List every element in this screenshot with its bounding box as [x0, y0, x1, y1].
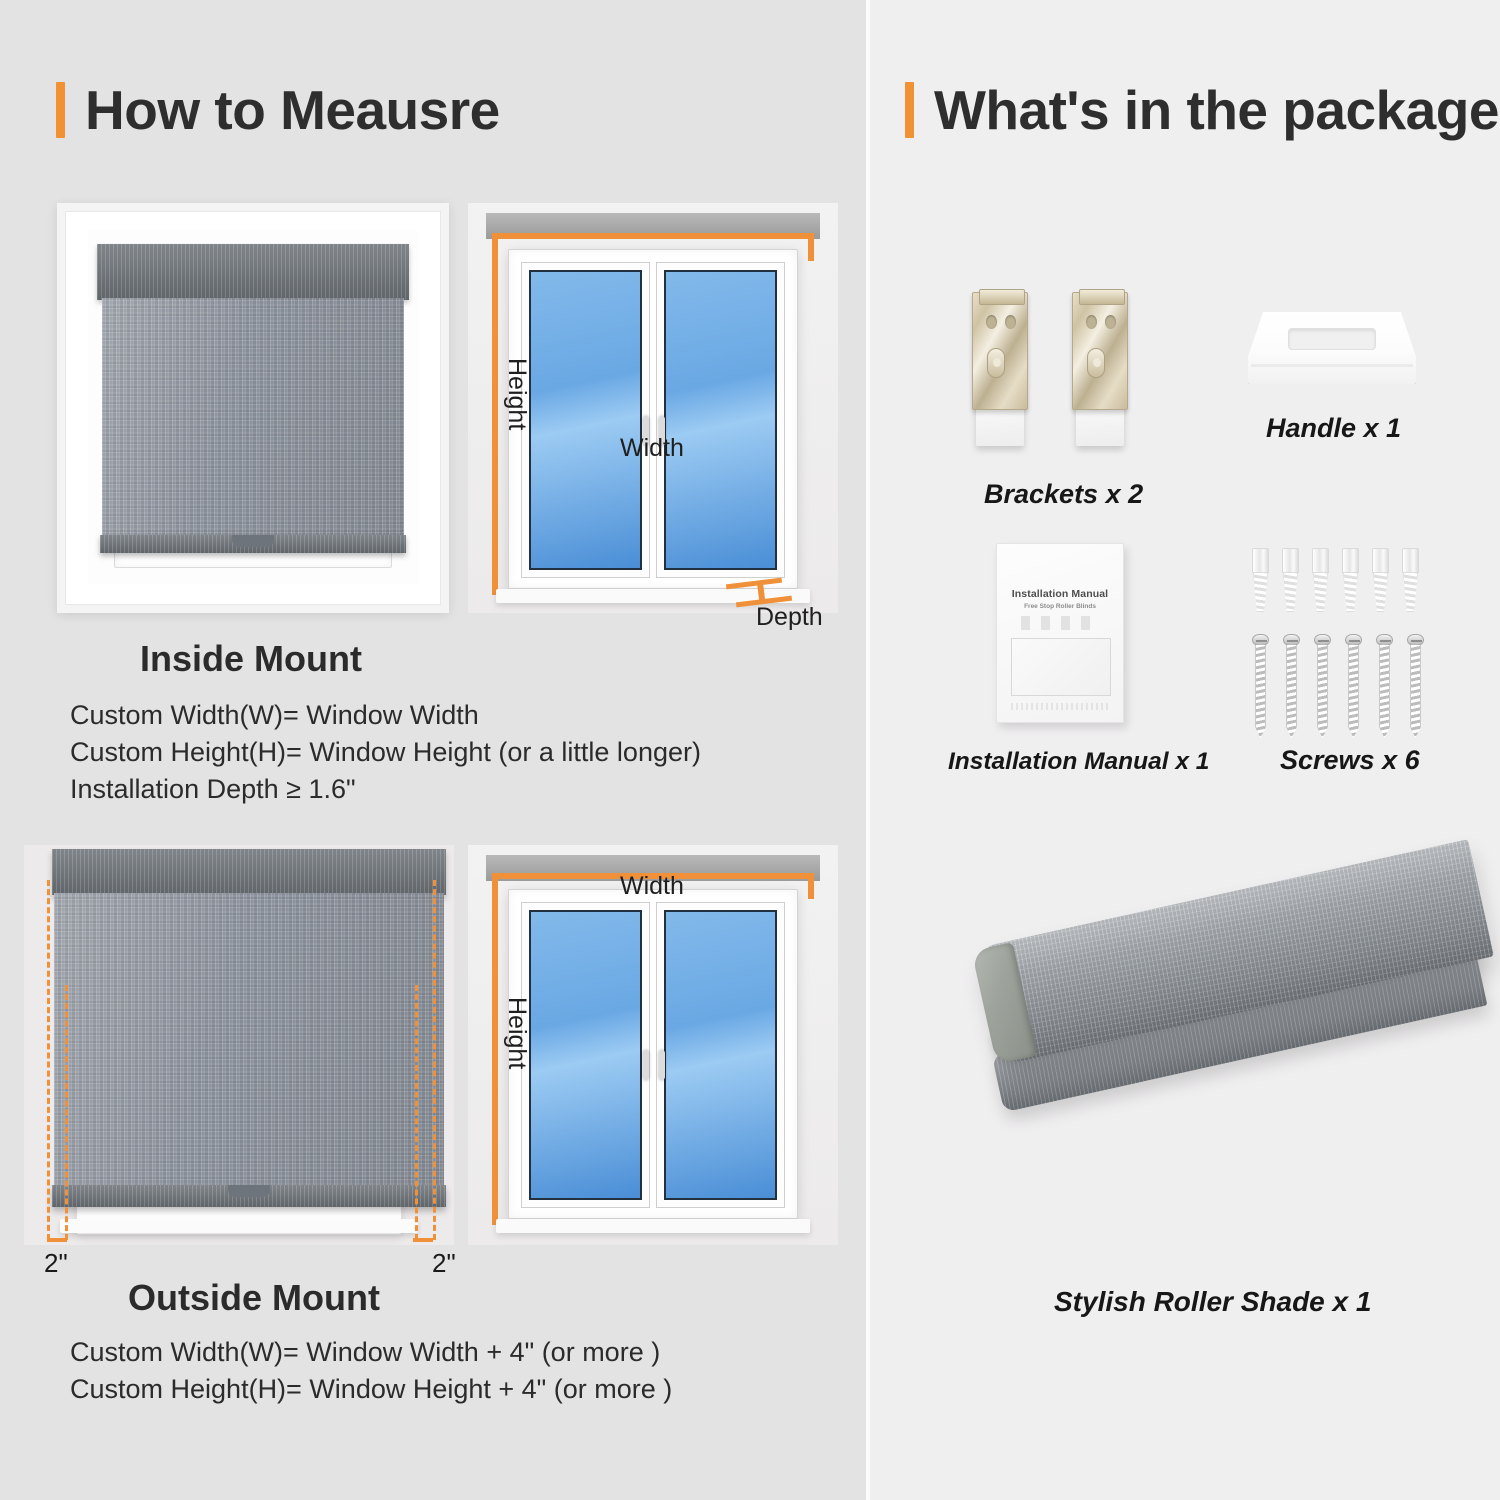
- screw: [1252, 634, 1269, 738]
- handle-grip-slot: [1288, 328, 1376, 350]
- window-sash-left: [521, 902, 650, 1208]
- manual-cover-icons: [1021, 616, 1101, 630]
- height-label: Height: [502, 358, 531, 430]
- screw-shaft: [1317, 645, 1328, 738]
- bracket-item-2: [1068, 288, 1132, 448]
- installation-manual-label: Installation Manual x 1: [948, 748, 1209, 776]
- shade-fabric: [102, 298, 404, 541]
- window-sash-right: [656, 902, 785, 1208]
- shade-bottom-rail: [52, 1185, 446, 1207]
- manual-cover-subtitle: Free Stop Roller Blinds: [997, 603, 1123, 610]
- screw-shaft: [1286, 645, 1297, 738]
- accent-bar-icon: [905, 82, 914, 138]
- anchor-body: [1373, 572, 1388, 612]
- screw-head: [1376, 634, 1393, 646]
- height-measure-bar: [492, 873, 498, 1225]
- height-measure-bar: [492, 233, 498, 595]
- window-outer-frame: [508, 889, 798, 1219]
- manual-cover-title: Installation Manual: [997, 588, 1123, 600]
- brackets-label: Brackets x 2: [984, 479, 1143, 510]
- screw: [1345, 634, 1362, 738]
- bracket-hole: [986, 315, 997, 329]
- screw: [1283, 634, 1300, 738]
- wall-anchor: [1311, 548, 1330, 612]
- depth-label: Depth: [756, 603, 823, 632]
- installation-manual-item: Installation Manual Free Stop Roller Bli…: [996, 543, 1124, 723]
- overhang-label-right: 2": [432, 1248, 456, 1279]
- panel-divider: [866, 0, 870, 1500]
- wall-anchor: [1281, 548, 1300, 612]
- handle-item: [1248, 312, 1416, 396]
- wall-anchor: [1401, 548, 1420, 612]
- overhang-guide-right-outer: [433, 880, 436, 1240]
- overhang-guide-left-outer: [47, 880, 50, 1240]
- package-title: What's in the package: [934, 83, 1499, 138]
- bracket-pin-slot: [987, 348, 1005, 378]
- anchor-head: [1402, 548, 1419, 573]
- overhang-guide-right-inner: [415, 985, 418, 1240]
- outside-mount-spec-1: Custom Width(W)= Window Width + 4" (or m…: [70, 1334, 660, 1371]
- accent-bar-icon: [56, 82, 65, 138]
- screw-head: [1314, 634, 1331, 646]
- window-glass-right: [664, 910, 777, 1200]
- overhang-guide-left-inner: [65, 985, 68, 1240]
- screw: [1376, 634, 1393, 738]
- width-label: Width: [620, 434, 684, 463]
- anchor-head: [1252, 548, 1269, 573]
- wall-anchor: [1371, 548, 1390, 612]
- screw-shaft: [1348, 645, 1359, 738]
- overhang-label-left: 2": [44, 1248, 68, 1279]
- window-wall-frame: [65, 211, 441, 605]
- roller-shade-label: Stylish Roller Shade x 1: [1054, 1286, 1371, 1318]
- width-measure-bar: [492, 233, 814, 239]
- handle-label: Handle x 1: [1266, 413, 1401, 444]
- wall-anchor-group: [1251, 548, 1431, 618]
- bracket-hole: [1105, 315, 1116, 329]
- screw-shaft: [1379, 645, 1390, 738]
- manual-cover-illustration: [1011, 638, 1111, 696]
- anchor-body: [1313, 572, 1328, 612]
- screw: [1407, 634, 1424, 738]
- package-heading: What's in the package: [905, 82, 1499, 138]
- anchor-head: [1282, 548, 1299, 573]
- width-measure-endcap-right: [808, 233, 814, 261]
- screw-head: [1252, 634, 1269, 646]
- anchor-body: [1253, 572, 1268, 612]
- screw: [1314, 634, 1331, 738]
- window-outer-frame: [508, 249, 798, 589]
- anchor-head: [1372, 548, 1389, 573]
- screws-label: Screws x 6: [1280, 745, 1420, 776]
- shade-fabric: [54, 893, 444, 1188]
- window-sill: [60, 1219, 418, 1233]
- outside-mount-title: Outside Mount: [128, 1277, 380, 1319]
- screw-shaft: [1255, 645, 1266, 738]
- bracket-hole: [1086, 315, 1097, 329]
- inside-mount-measure-diagram: Width Height Depth: [468, 203, 838, 613]
- outside-mount-measure-diagram: Width Height: [468, 845, 838, 1245]
- manual-cover-footer: [1011, 703, 1111, 710]
- shade-pull-tab: [232, 535, 274, 547]
- window-sill: [496, 1219, 810, 1233]
- anchor-body: [1343, 572, 1358, 612]
- outside-mount-shade-photo: [24, 845, 454, 1245]
- bracket-item-1: [968, 288, 1032, 448]
- handle-ridge: [1251, 364, 1413, 367]
- wall-anchor: [1251, 548, 1270, 612]
- screw-head: [1407, 634, 1424, 646]
- sash-handle-right-icon: [659, 1050, 665, 1080]
- how-to-measure-heading: How to Meausre: [56, 82, 500, 138]
- width-label: Width: [620, 872, 684, 901]
- wall-anchor: [1341, 548, 1360, 612]
- shade-bottom-rail: [100, 535, 406, 553]
- roller-shade-product-photo: [960, 905, 1490, 1235]
- window-sash-left: [521, 262, 650, 578]
- screw-group: [1252, 634, 1432, 738]
- screw-head: [1345, 634, 1362, 646]
- how-to-measure-title: How to Meausre: [85, 83, 500, 138]
- window-glass-right: [664, 270, 777, 570]
- shade-valance: [97, 244, 409, 300]
- anchor-body: [1283, 572, 1298, 612]
- inside-mount-shade-photo: [57, 203, 449, 613]
- screw-head: [1283, 634, 1300, 646]
- outside-mount-spec-2: Custom Height(H)= Window Height + 4" (or…: [70, 1371, 672, 1408]
- inside-mount-spec-2: Custom Height(H)= Window Height (or a li…: [70, 734, 701, 771]
- window-glass-left: [529, 270, 642, 570]
- height-label: Height: [502, 997, 531, 1069]
- overhang-arrow-right: [413, 1238, 433, 1242]
- shade-valance: [52, 849, 446, 895]
- anchor-head: [1312, 548, 1329, 573]
- shade-pull-tab: [228, 1185, 270, 1197]
- overhang-arrow-left: [47, 1238, 67, 1242]
- screw-shaft: [1410, 645, 1421, 738]
- inside-mount-title: Inside Mount: [140, 638, 362, 680]
- anchor-head: [1342, 548, 1359, 573]
- bracket-pin-slot: [1087, 348, 1105, 378]
- inside-mount-spec-1: Custom Width(W)= Window Width: [70, 697, 479, 734]
- handle-body: [1248, 312, 1416, 384]
- window-glass-left: [529, 910, 642, 1200]
- window-sash-right: [656, 262, 785, 578]
- bracket-hole: [1005, 315, 1016, 329]
- window-recess: [88, 230, 418, 584]
- anchor-body: [1403, 572, 1418, 612]
- sash-handle-left-icon: [643, 1050, 649, 1080]
- inside-mount-spec-3: Installation Depth ≥ 1.6": [70, 771, 356, 808]
- width-measure-endcap-right: [808, 873, 814, 899]
